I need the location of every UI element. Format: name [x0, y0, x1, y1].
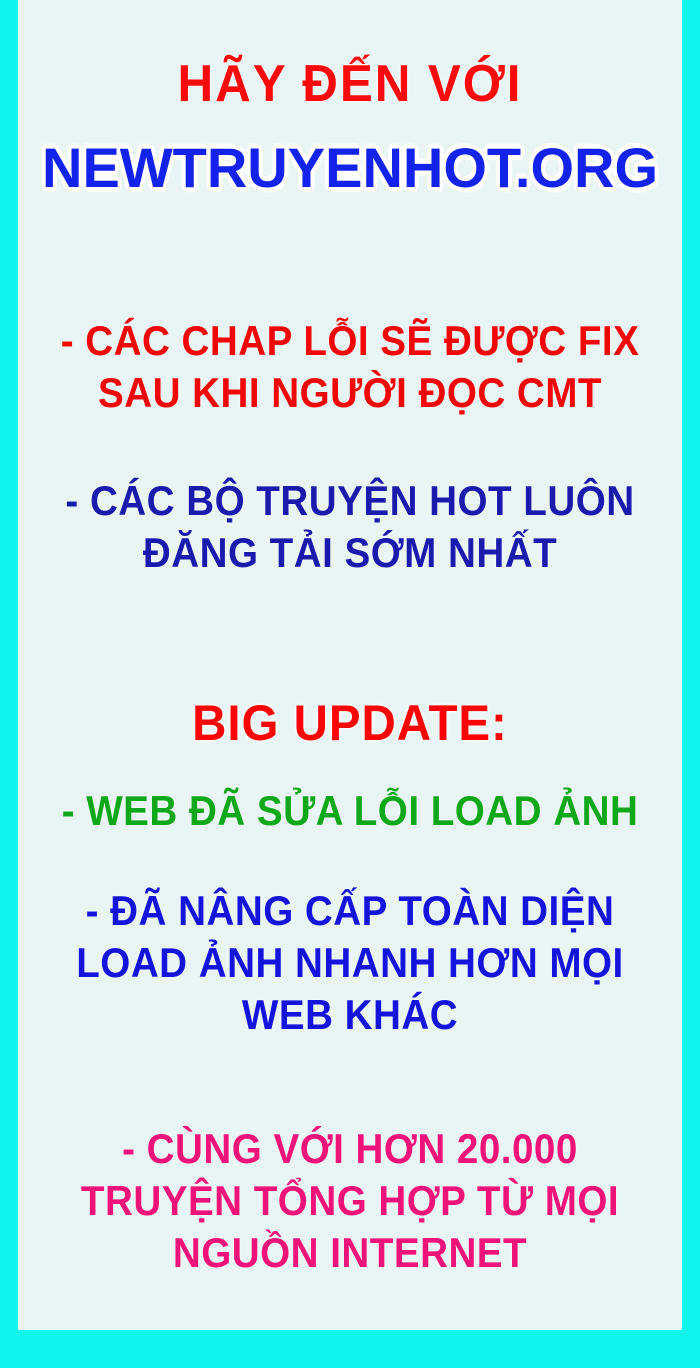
notice-hot-notice: - CÁC BỘ TRUYỆN HOT LUÔN ĐĂNG TẢI SỚM NH…: [18, 480, 682, 574]
update-item-full-upgrade-line-2: LOAD ẢNH NHANH HƠN MỌI: [45, 942, 656, 984]
headline-block: HÃY ĐẾN VỚI: [18, 58, 682, 110]
update-item-image-load-fix: - WEB ĐÃ SỬA LỖI LOAD ẢNH: [18, 790, 682, 832]
promo-banner: HÃY ĐẾN VỚI NEWTRUYENHOT.ORG - CÁC CHAP …: [0, 0, 700, 1368]
update-item-story-count-line-2: TRUYỆN TỔNG HỢP TỪ MỌI: [45, 1180, 656, 1222]
update-item-full-upgrade-line-1: - ĐÃ NÂNG CẤP TOÀN DIỆN: [45, 890, 656, 932]
update-title-block: BIG UPDATE:: [18, 698, 682, 748]
update-item-image-load-fix-line-1: - WEB ĐÃ SỬA LỖI LOAD ẢNH: [45, 790, 656, 832]
update-item-story-count-line-1: - CÙNG VỚI HƠN 20.000: [45, 1128, 656, 1170]
update-item-full-upgrade: - ĐÃ NÂNG CẤP TOÀN DIỆN LOAD ẢNH NHANH H…: [18, 890, 682, 1036]
notice-fix-notice-line-2: SAU KHI NGƯỜI ĐỌC CMT: [45, 372, 656, 414]
notice-hot-notice-line-1: - CÁC BỘ TRUYỆN HOT LUÔN: [45, 480, 656, 522]
headline-line-1: HÃY ĐẾN VỚI: [35, 58, 666, 110]
site-url-text[interactable]: NEWTRUYENHOT.ORG: [18, 140, 682, 196]
notice-fix-notice-line-1: - CÁC CHAP LỖI SẼ ĐƯỢC FIX: [45, 320, 656, 362]
banner-inner-panel: HÃY ĐẾN VỚI NEWTRUYENHOT.ORG - CÁC CHAP …: [18, 0, 682, 1330]
update-item-story-count: - CÙNG VỚI HƠN 20.000 TRUYỆN TỔNG HỢP TỪ…: [18, 1128, 682, 1274]
update-item-full-upgrade-line-3: WEB KHÁC: [45, 994, 656, 1036]
notice-fix-notice: - CÁC CHAP LỖI SẼ ĐƯỢC FIX SAU KHI NGƯỜI…: [18, 320, 682, 414]
site-name-block[interactable]: NEWTRUYENHOT.ORG: [18, 140, 682, 196]
update-item-story-count-line-3: NGUỒN INTERNET: [45, 1232, 656, 1274]
update-title: BIG UPDATE:: [35, 698, 666, 748]
notice-hot-notice-line-2: ĐĂNG TẢI SỚM NHẤT: [45, 532, 656, 574]
